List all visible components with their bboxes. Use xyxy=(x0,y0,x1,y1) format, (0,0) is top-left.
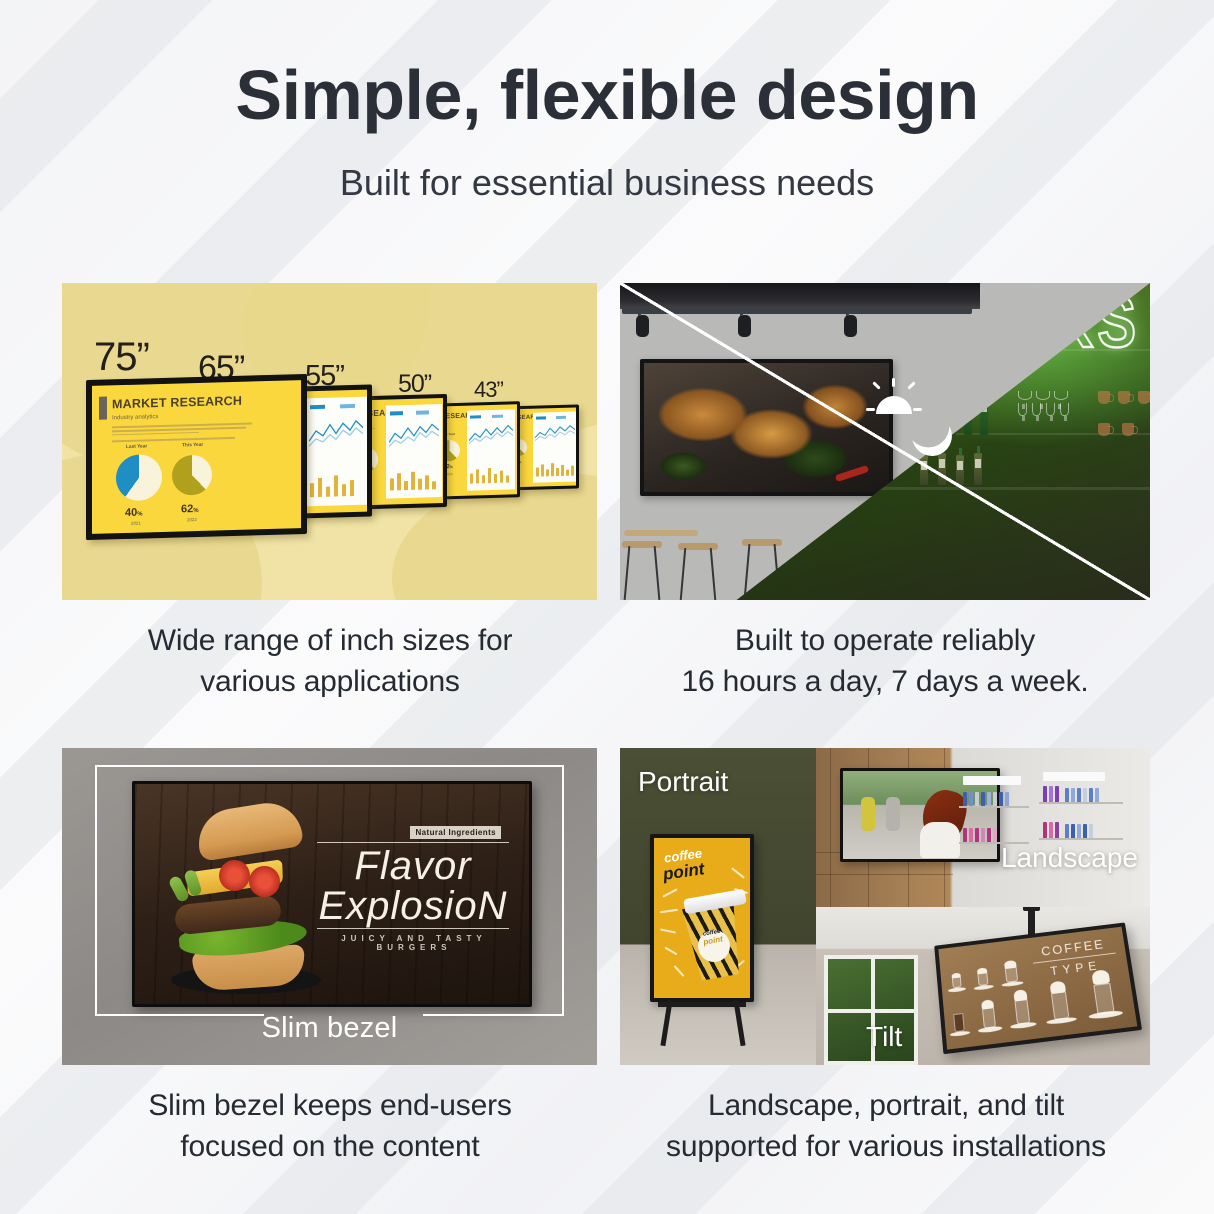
coffee-point-screen: coffee point coffee point xyxy=(654,838,750,998)
infographic-page: Simple, flexible design Built for essent… xyxy=(0,0,1214,1214)
slim-bezel-callout-frame: Slim bezel xyxy=(95,765,564,1016)
line-chart xyxy=(309,416,363,452)
coffee-cup-item xyxy=(947,1002,970,1036)
page-header: Simple, flexible design Built for essent… xyxy=(0,60,1214,204)
orientation-label-tilt: Tilt xyxy=(866,1021,902,1053)
ceiling-mount-rod xyxy=(1028,907,1035,935)
bystander xyxy=(861,797,875,831)
pie-right-caption: 2022 xyxy=(446,472,453,476)
pie-chart-right xyxy=(172,455,212,496)
line-chart xyxy=(535,423,575,444)
brand-line-2: point xyxy=(662,859,706,885)
pie-left-value: 40% xyxy=(125,507,143,519)
screen-subtitle: Industry analytics xyxy=(112,414,158,421)
body-text-lines xyxy=(112,422,252,444)
coffee-cup-item xyxy=(999,955,1024,988)
chart-label-right: This Year xyxy=(182,443,203,449)
display-size-lineup: 43” MARKET RESEARCH Industry analytics 4… xyxy=(62,283,597,600)
sub-panel-landscape: Landscape xyxy=(816,748,1150,907)
screen-right-column xyxy=(305,397,367,507)
easel-stand xyxy=(648,1000,758,1046)
caption-line-2: 16 hours a day, 7 days a week. xyxy=(600,661,1170,702)
orientation-label-landscape: Landscape xyxy=(1001,842,1138,874)
coffee-cup-item xyxy=(1082,962,1124,1019)
sub-panel-tilt: COFFEE TYPE xyxy=(816,907,1150,1065)
caption-line-2: supported for various installations xyxy=(596,1126,1176,1167)
coffee-cup-item xyxy=(975,993,1003,1034)
caption-slim-bezel: Slim bezel keeps end-users focused on th… xyxy=(40,1085,620,1168)
legend-row xyxy=(536,416,574,421)
screen-right-column xyxy=(467,409,515,490)
caption-line-1: Landscape, portrait, and tilt xyxy=(596,1085,1176,1126)
coffee-cup-item xyxy=(971,962,993,991)
screen-right-column xyxy=(386,404,442,499)
panel-reliability: DRINKS xyxy=(620,283,1150,600)
size-label-43: 43” xyxy=(474,379,503,401)
page-title: Simple, flexible design xyxy=(0,60,1214,130)
heading-line-1: COFFEE xyxy=(1031,935,1115,959)
display-bezel-75: MARKET RESEARCH Industry analytics Last … xyxy=(86,374,307,540)
accent-tab xyxy=(99,396,107,419)
pie-chart-left xyxy=(116,454,162,501)
coffee-cup-item xyxy=(1006,983,1037,1030)
size-label-50: 50” xyxy=(398,372,431,397)
caption-line-1: Wide range of inch sizes for xyxy=(40,620,620,661)
line-chart xyxy=(389,420,439,451)
screen-right-column xyxy=(533,411,576,482)
caption-inch-sizes: Wide range of inch sizes for various app… xyxy=(40,620,620,703)
product-shelving xyxy=(953,748,1150,907)
caption-reliability: Built to operate reliably 16 hours a day… xyxy=(600,620,1170,703)
portrait-display: coffee point coffee point xyxy=(650,834,754,1002)
size-label-75: 75” xyxy=(94,337,149,377)
chart-label-left: Last Year xyxy=(126,444,147,450)
line-chart xyxy=(469,422,513,447)
caption-orientations: Landscape, portrait, and tilt supported … xyxy=(596,1085,1176,1168)
caption-line-2: focused on the content xyxy=(40,1126,620,1167)
coffee-cup-item xyxy=(1041,974,1077,1025)
caption-line-1: Slim bezel keeps end-users xyxy=(40,1085,620,1126)
page-subtitle: Built for essential business needs xyxy=(0,162,1214,204)
slim-bezel-label: Slim bezel xyxy=(95,1012,564,1045)
caption-line-1: Built to operate reliably xyxy=(600,620,1170,661)
panel-orientations: coffee point coffee point Portrait xyxy=(620,748,1150,1065)
coffee-cup-item xyxy=(946,967,966,992)
screen-title: MARKET RESEARCH xyxy=(112,394,242,412)
panel-slim-bezel: Natural Ingredients Flavor ExplosioN JUI… xyxy=(62,748,597,1065)
display-screen-75: MARKET RESEARCH Industry analytics Last … xyxy=(92,380,301,534)
panel-inch-sizes: 43” MARKET RESEARCH Industry analytics 4… xyxy=(62,283,597,600)
caption-line-2: various applications xyxy=(40,661,620,702)
bystander xyxy=(886,797,900,831)
pie-right-caption: 2022 xyxy=(187,517,197,522)
pie-right-value: 62% xyxy=(181,503,199,515)
coffee-menu-screen: COFFEE TYPE xyxy=(938,927,1137,1050)
day-night-divider xyxy=(620,283,1150,600)
orientation-label-portrait: Portrait xyxy=(638,766,728,798)
sub-panel-portrait: coffee point coffee point Portrait xyxy=(620,748,816,1065)
pie-left-caption: 2021 xyxy=(131,521,141,526)
